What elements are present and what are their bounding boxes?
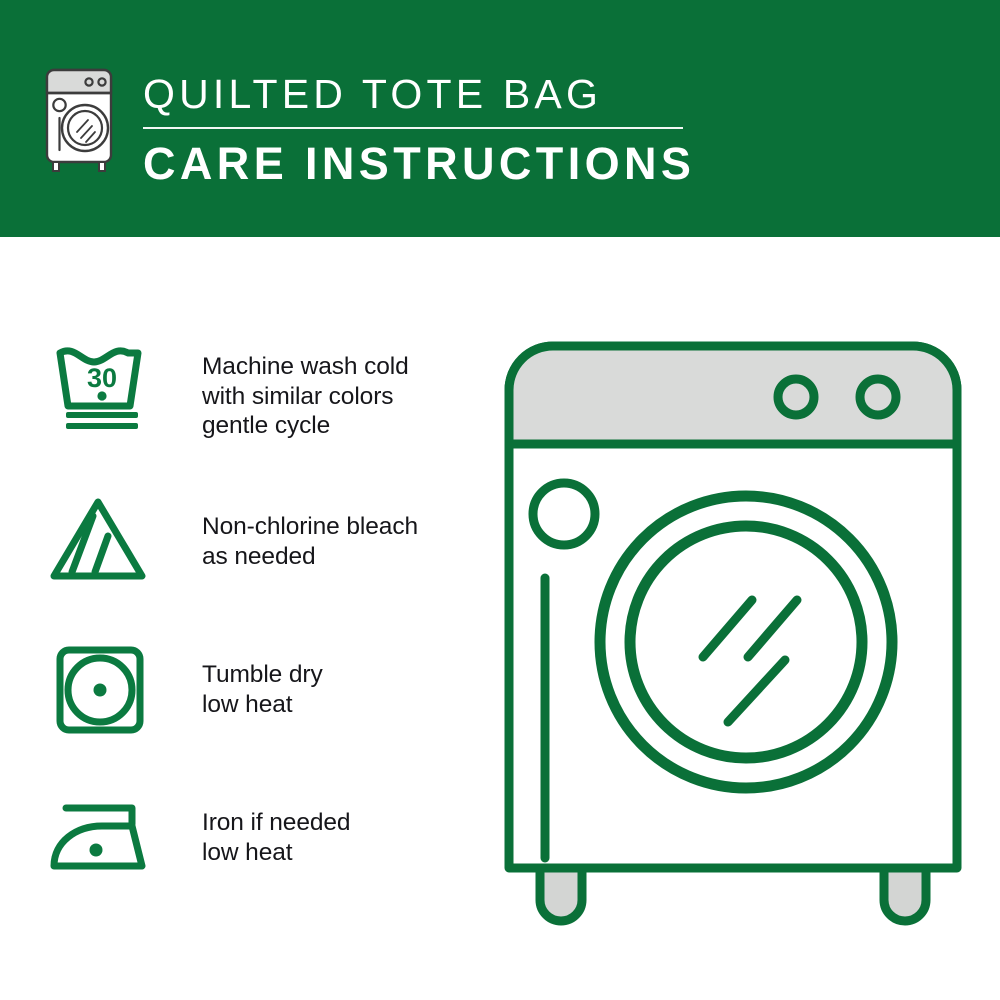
triangle-non-chlorine-bleach-icon [46,486,166,586]
iron-low-heat-icon [46,786,166,886]
care-label-iron: Iron if needed low heat [166,786,466,867]
care-label-tumble-dry: Tumble dry low heat [166,636,466,719]
care-row-bleach: Non-chlorine bleach as needed [46,486,466,636]
leg-right [884,868,926,921]
wash-tub-30-gentle-icon: 30 [46,336,166,436]
washing-machine-icon [44,66,116,174]
front-load-washing-machine-illustration [495,330,970,930]
tumble-dry-low-heat-icon [46,636,166,736]
control-panel [509,346,957,444]
care-label-bleach: Non-chlorine bleach as needed [166,486,466,571]
page-subtitle: CARE INSTRUCTIONS [143,138,843,190]
page-title: QUILTED TOTE BAG [143,70,843,118]
leg-left [540,868,582,921]
care-instructions-infographic: QUILTED TOTE BAG CARE INSTRUCTIONS 30 [0,0,1000,1000]
care-row-machine-wash: 30 Machine wash cold with similar colors… [46,336,466,486]
care-row-iron: Iron if needed low heat [46,786,466,936]
care-instruction-list: 30 Machine wash cold with similar colors… [46,336,466,936]
title-divider [143,127,683,129]
care-row-tumble-dry: Tumble dry low heat [46,636,466,786]
wash-temperature-value: 30 [87,363,117,393]
header-banner: QUILTED TOTE BAG CARE INSTRUCTIONS [0,0,1000,237]
care-label-machine-wash: Machine wash cold with similar colors ge… [166,336,466,441]
header-title-block: QUILTED TOTE BAG CARE INSTRUCTIONS [143,70,843,190]
